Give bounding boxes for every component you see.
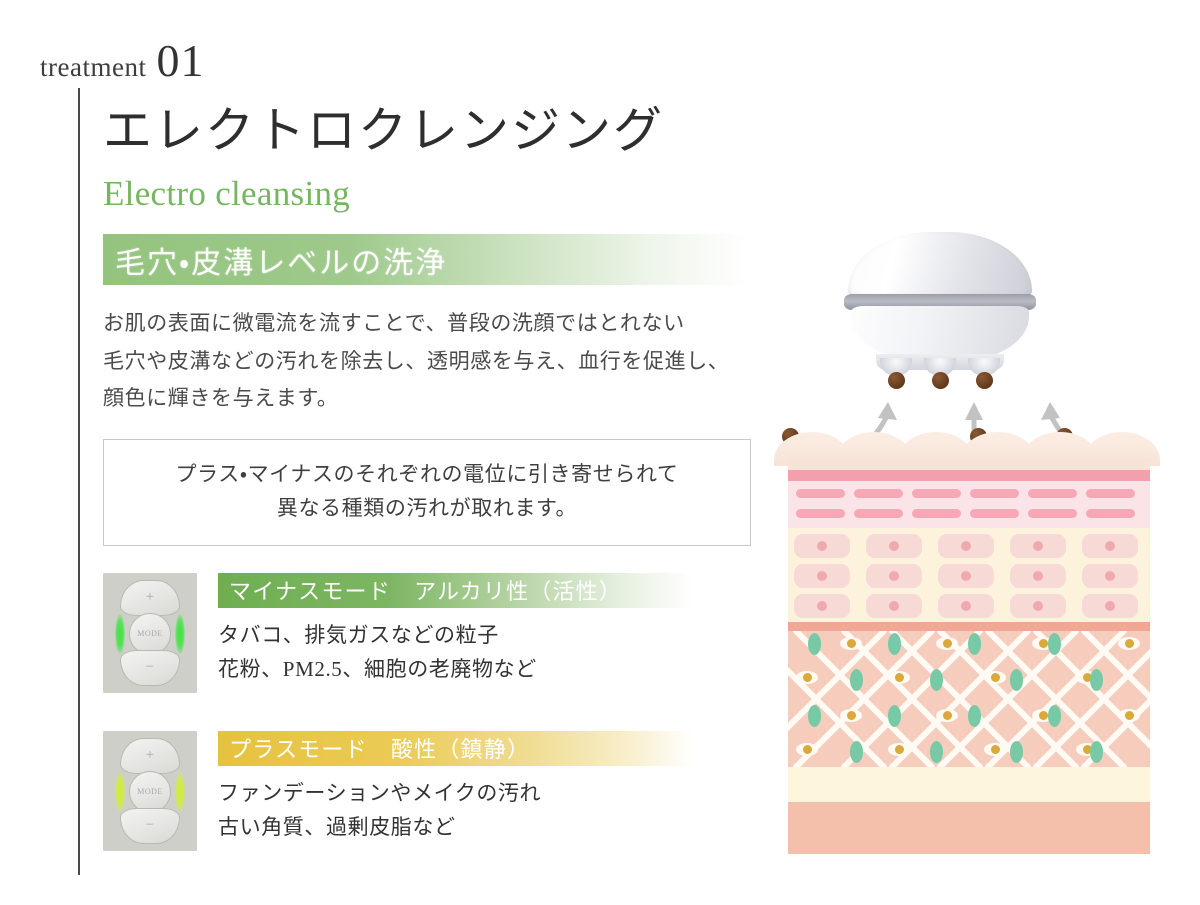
section-banner-label: 毛穴・皮溝レベルの洗浄 xyxy=(103,238,447,282)
eyebrow: treatment 01 xyxy=(40,38,204,84)
minus-button-minus-mode[interactable]: − xyxy=(120,650,180,686)
subcutaneous-layer xyxy=(788,802,1150,854)
dermis-lattice xyxy=(788,631,1150,767)
mode-banner-plus: プラスモード 酸性（鎮静） xyxy=(218,731,693,766)
mode-banner-label-plus: プラスモード 酸性（鎮静） xyxy=(229,732,530,764)
skin-cross-section xyxy=(788,432,1150,857)
mode-button-plus-mode[interactable]: MODE xyxy=(129,771,171,813)
granular-cell-layer xyxy=(788,528,1150,622)
list-item: 花粉、PM2.5、細胞の老廃物など xyxy=(218,652,793,686)
cream-layer xyxy=(788,767,1150,802)
mode-text-minus: マイナスモード アルカリ性（活性） タバコ、排気ガスなどの粒子 花粉、PM2.5… xyxy=(218,573,793,686)
content-column: エレクトロクレンジング Electro cleansing 毛穴・皮溝レベルの洗… xyxy=(103,103,793,851)
list-item: 古い角質、過剰皮脂など xyxy=(218,810,793,844)
page-title: エレクトロクレンジング xyxy=(103,103,793,159)
body-line-2: 毛穴や皮溝などの汚れを除去し、透明感を与え、血行を促進し、 xyxy=(103,343,793,380)
plus-button-minus-mode[interactable]: + xyxy=(120,580,180,616)
body-copy: お肌の表面に微電流を流すことで、普段の洗顔ではとれない 毛穴や皮溝などの汚れを除… xyxy=(103,305,793,417)
eyebrow-number: 01 xyxy=(156,38,204,84)
section-banner: 毛穴・皮溝レベルの洗浄 xyxy=(103,234,749,285)
mode-banner-minus: マイナスモード アルカリ性（活性） xyxy=(218,573,693,608)
callout-line-2: 異なる種類の汚れが取れます。 xyxy=(114,491,740,525)
slide-root: treatment 01 エレクトロクレンジング Electro cleansi… xyxy=(0,0,1200,905)
list-item: タバコ、排気ガスなどの粒子 xyxy=(218,618,793,652)
mode-row-plus: + MODE − プラスモード 酸性（鎮静） ファンデーションやメイクの汚れ 古… xyxy=(103,731,793,851)
eyebrow-word: treatment xyxy=(40,52,146,83)
device-dome xyxy=(848,232,1032,300)
mode-banner-label-minus: マイナスモード アルカリ性（活性） xyxy=(229,574,622,606)
minus-button-plus-mode[interactable]: − xyxy=(120,808,180,844)
basal-divider xyxy=(788,622,1150,631)
glow-arc-right-green xyxy=(175,614,185,654)
mode-list-plus: ファンデーションやメイクの汚れ 古い角質、過剰皮脂など xyxy=(218,776,793,844)
mode-row-minus: + MODE − マイナスモード アルカリ性（活性） タバコ、排気ガスなどの粒子… xyxy=(103,573,793,693)
skin-illustration xyxy=(788,232,1150,857)
glow-arc-right-yellow xyxy=(175,772,185,812)
device-button-panel-plus: + MODE − xyxy=(103,731,197,851)
stratum-corneum-line xyxy=(788,470,1150,481)
glow-arc-left-yellow xyxy=(115,772,125,812)
callout-box: プラス・マイナスのそれぞれの電位に引き寄せられて 異なる種類の汚れが取れます。 xyxy=(103,439,751,545)
page-subtitle: Electro cleansing xyxy=(103,173,793,215)
body-line-3: 顔色に輝きを与えます。 xyxy=(103,380,793,417)
device-button-panel-minus: + MODE − xyxy=(103,573,197,693)
glow-arc-left-green xyxy=(115,614,125,654)
mode-button-minus-mode[interactable]: MODE xyxy=(129,613,171,655)
device-lower-body xyxy=(851,306,1029,360)
mode-text-plus: プラスモード 酸性（鎮静） ファンデーションやメイクの汚れ 古い角質、過剰皮脂な… xyxy=(218,731,793,844)
device-head-icon xyxy=(840,232,1040,382)
callout-line-1: プラス・マイナスのそれぞれの電位に引き寄せられて xyxy=(114,457,740,491)
list-item: ファンデーションやメイクの汚れ xyxy=(218,776,793,810)
dash-layer xyxy=(788,481,1150,528)
mode-list-minus: タバコ、排気ガスなどの粒子 花粉、PM2.5、細胞の老廃物など xyxy=(218,618,793,686)
body-line-1: お肌の表面に微電流を流すことで、普段の洗顔ではとれない xyxy=(103,305,793,342)
plus-button-plus-mode[interactable]: + xyxy=(120,738,180,774)
vertical-rule xyxy=(78,88,80,875)
epidermis-surface xyxy=(788,432,1150,466)
